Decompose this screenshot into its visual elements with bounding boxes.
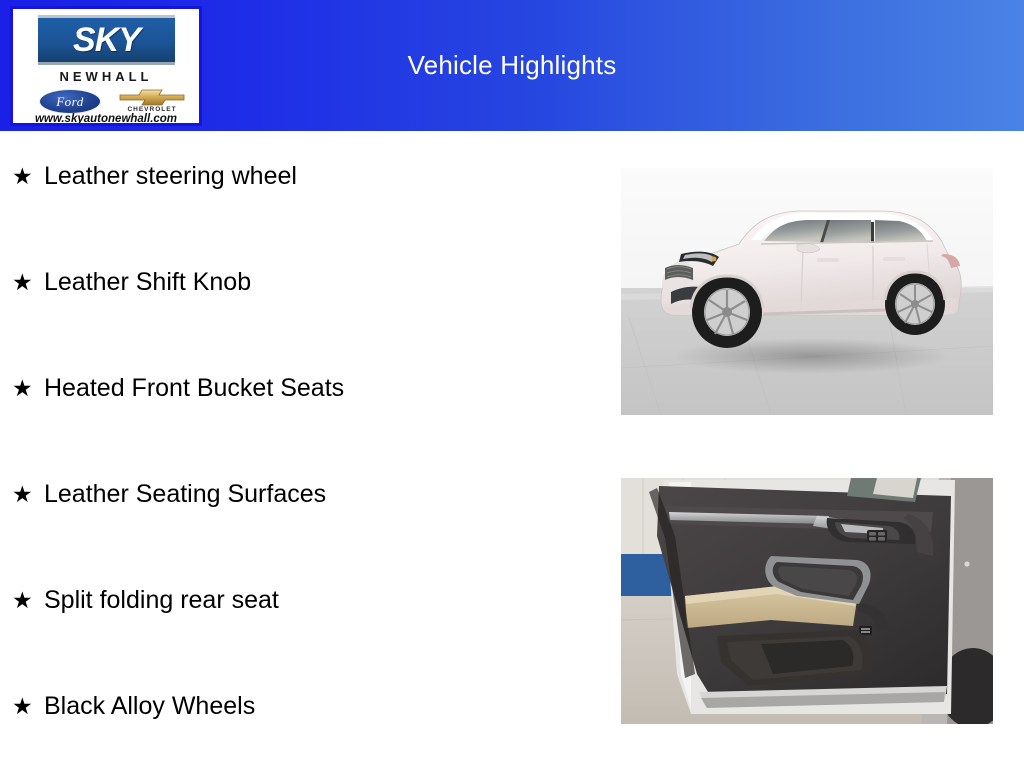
star-bullet-icon: ★ xyxy=(12,165,44,188)
highlight-label: Leather Shift Knob xyxy=(44,268,251,297)
star-bullet-icon: ★ xyxy=(12,589,44,612)
highlight-label: Heated Front Bucket Seats xyxy=(44,374,344,403)
star-bullet-icon: ★ xyxy=(12,695,44,718)
ford-logo-text: Ford xyxy=(40,90,100,113)
vehicle-door-panel-photo xyxy=(621,478,993,724)
dealer-location-text: NEWHALL xyxy=(13,69,199,84)
highlight-label: Black Alloy Wheels xyxy=(44,692,255,721)
list-item: ★ Split folding rear seat xyxy=(12,586,279,615)
sky-brand-plate: SKY xyxy=(38,15,175,65)
list-item: ★ Black Alloy Wheels xyxy=(12,692,255,721)
chevrolet-bowtie-icon xyxy=(119,89,185,106)
star-bullet-icon: ★ xyxy=(12,377,44,400)
list-item: ★ Heated Front Bucket Seats xyxy=(12,374,344,403)
dealer-logo: SKY NEWHALL Ford CHEVROLET www.skyautone… xyxy=(10,6,202,126)
vehicle-highlights-list: ★ Leather steering wheel ★ Leather Shift… xyxy=(0,131,600,768)
star-bullet-icon: ★ xyxy=(12,483,44,506)
star-bullet-icon: ★ xyxy=(12,271,44,294)
chevrolet-logo-icon: CHEVROLET xyxy=(117,89,187,115)
list-item: ★ Leather Shift Knob xyxy=(12,268,251,297)
highlight-label: Split folding rear seat xyxy=(44,586,279,615)
sky-brand-text: SKY xyxy=(38,18,175,62)
dealer-logo-inner: SKY NEWHALL Ford CHEVROLET www.skyautone… xyxy=(13,9,199,123)
list-item: ★ Leather steering wheel xyxy=(12,162,297,191)
ford-logo-icon: Ford xyxy=(39,89,101,114)
dealer-website-text: www.skyautonewhall.com xyxy=(13,113,199,125)
list-item: ★ Leather Seating Surfaces xyxy=(12,480,326,509)
vehicle-exterior-illustration xyxy=(621,168,993,415)
vehicle-exterior-photo xyxy=(621,168,993,415)
chevrolet-logo-text: CHEVROLET xyxy=(117,106,187,113)
highlight-label: Leather Seating Surfaces xyxy=(44,480,326,509)
highlight-label: Leather steering wheel xyxy=(44,162,297,191)
door-panel-illustration xyxy=(621,478,993,724)
